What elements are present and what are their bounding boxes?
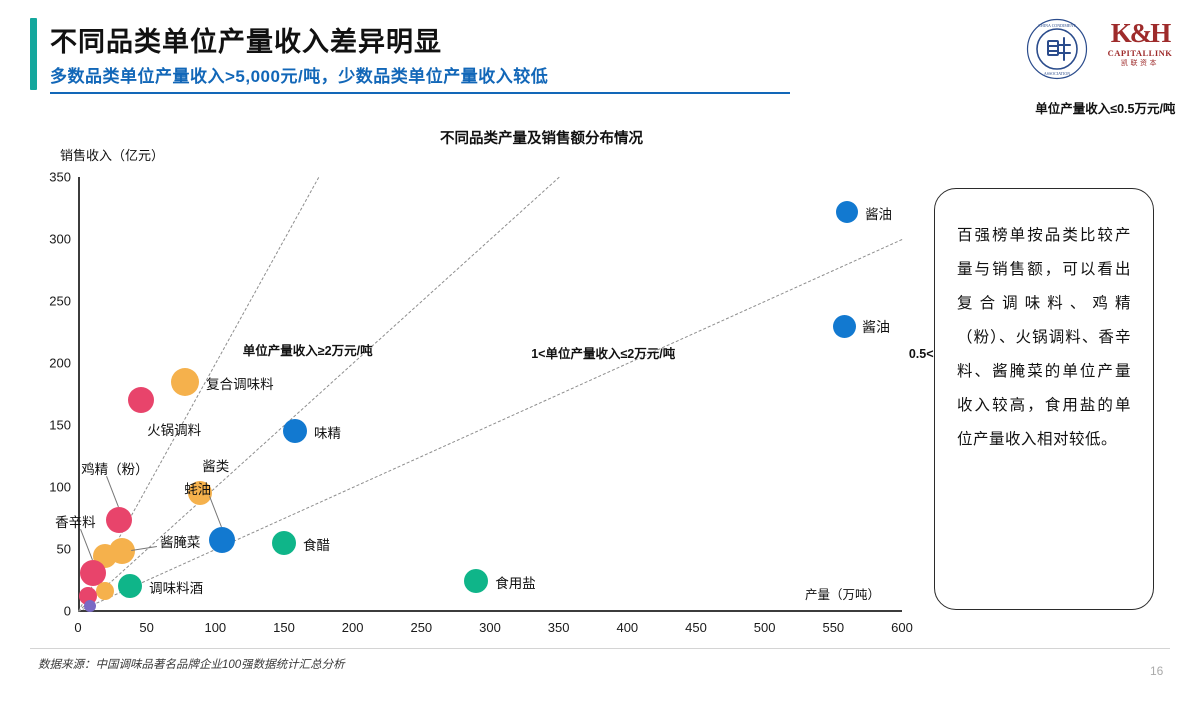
x-axis-tick: 200: [342, 620, 364, 635]
data-point-bubble: [118, 574, 142, 598]
page-title: 不同品类单位产量收入差异明显: [50, 20, 442, 59]
data-point-bubble: [464, 569, 488, 593]
scatter-chart: 不同品类产量及销售额分布情况 销售收入（亿元） 产量（万吨） 050100150…: [0, 105, 930, 650]
data-point-label: 复合调味料: [206, 373, 274, 393]
legend-label-soy-sauce: 酱油: [862, 317, 890, 337]
data-point-label: 酱油: [865, 203, 892, 223]
footer-divider: [30, 648, 1170, 649]
svg-text:CHINA CONDIMENT: CHINA CONDIMENT: [1038, 23, 1076, 28]
data-point-bubble: [96, 582, 114, 600]
y-axis-tick: 0: [64, 604, 71, 619]
data-point-bubble: [128, 387, 154, 413]
trend-line: [78, 239, 902, 612]
x-axis-tick: 550: [822, 620, 844, 635]
page-subtitle: 多数品类单位产量收入>5,000元/吨，少数品类单位产量收入较低: [50, 62, 548, 87]
data-point-label: 蚝油: [184, 478, 211, 498]
data-point-label: 酱腌菜: [160, 531, 201, 551]
x-axis-tick: 50: [139, 620, 153, 635]
y-axis-tick: 350: [49, 170, 71, 185]
logo-group: CHINA CONDIMENT ASSOCIATION K&H CAPITALL…: [1012, 16, 1182, 84]
zone-annotation: 单位产量收入≥2万元/吨: [243, 340, 373, 359]
x-axis-tick: 450: [685, 620, 707, 635]
x-axis-tick: 400: [616, 620, 638, 635]
chart-title: 不同品类产量及销售额分布情况: [440, 127, 643, 148]
header-divider: [50, 92, 790, 94]
page-number: 16: [1150, 664, 1163, 678]
x-axis-tick: 0: [74, 620, 81, 635]
data-point-label: 食醋: [303, 534, 330, 554]
capitallink-mark: K&H: [1104, 18, 1176, 48]
title-accent-bar: [30, 18, 37, 90]
data-point-label: 香辛料: [55, 511, 96, 531]
capitallink-name-en: CAPITALLINK: [1104, 48, 1176, 59]
zone-annotation: 单位产量收入≤0.5万元/吨: [1035, 98, 1175, 117]
label-leader-line: [209, 496, 222, 527]
x-axis-tick: 350: [548, 620, 570, 635]
plot-region: 0501001502002503003500501001502002503003…: [78, 177, 902, 611]
label-leader-line: [106, 476, 119, 507]
commentary-box: 百强榜单按品类比较产量与销售额，可以看出复合调味料、鸡精（粉）、火锅调料、香辛料…: [934, 188, 1154, 610]
x-axis-tick: 100: [204, 620, 226, 635]
x-axis-tick: 300: [479, 620, 501, 635]
data-point-bubble: [836, 201, 858, 223]
data-source-note: 数据来源：中国调味品著名品牌企业100强数据统计汇总分析: [38, 656, 345, 672]
data-point-label: 食用盐: [495, 572, 536, 592]
y-axis-tick: 100: [49, 480, 71, 495]
slide-header: 不同品类单位产量收入差异明显 多数品类单位产量收入>5,000元/吨，少数品类单…: [0, 0, 1200, 100]
y-axis-tick: 300: [49, 232, 71, 247]
y-axis-tick: 50: [57, 542, 71, 557]
svg-text:ASSOCIATION: ASSOCIATION: [1044, 71, 1070, 76]
x-axis-tick: 250: [410, 620, 432, 635]
data-point-label: 调味料酒: [149, 577, 203, 597]
data-point-bubble: [272, 531, 296, 555]
label-leader-line: [80, 529, 93, 560]
capitallink-name-cn: 凯联资本: [1104, 59, 1176, 69]
legend-marker-soy-sauce: [833, 315, 856, 338]
china-condiment-association-logo: CHINA CONDIMENT ASSOCIATION: [1026, 18, 1088, 80]
x-axis-tick: 500: [754, 620, 776, 635]
data-point-label: 味精: [314, 422, 341, 442]
data-point-bubble: [171, 368, 199, 396]
data-point-bubble: [106, 507, 132, 533]
x-axis-tick: 600: [891, 620, 913, 635]
commentary-text: 百强榜单按品类比较产量与销售额，可以看出复合调味料、鸡精（粉）、火锅调料、香辛料…: [957, 219, 1131, 457]
data-point-bubble: [84, 600, 96, 612]
y-axis-title: 销售收入（亿元）: [60, 145, 164, 164]
zone-annotation: 1<单位产量收入≤2万元/吨: [531, 343, 675, 362]
y-axis-tick: 150: [49, 418, 71, 433]
y-axis-tick: 250: [49, 294, 71, 309]
data-point-label: 鸡精（粉）: [81, 458, 149, 478]
y-axis-tick: 200: [49, 356, 71, 371]
data-point-label: 酱类: [202, 455, 229, 475]
data-point-bubble: [209, 527, 235, 553]
x-axis-tick: 150: [273, 620, 295, 635]
capitallink-logo: K&H CAPITALLINK 凯联资本: [1104, 18, 1176, 82]
data-point-bubble: [283, 419, 307, 443]
data-point-label: 火锅调料: [147, 419, 201, 439]
